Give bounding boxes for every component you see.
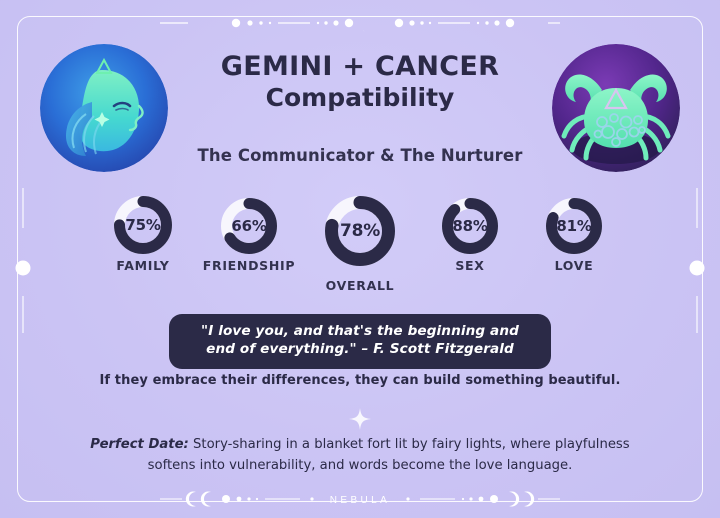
ring-gauge-love: 81%LOVE	[514, 198, 634, 273]
page-title-block: GEMINI + CANCER Compatibility	[180, 52, 540, 113]
ring-value: 88%	[442, 217, 498, 235]
sparkle-icon	[347, 406, 373, 432]
perfect-date-label: Perfect Date:	[90, 437, 189, 452]
perfect-date-line-1: Story-sharing in a blanket fort lit by f…	[193, 437, 551, 452]
ring-gauge-sex: 88%SEX	[410, 198, 530, 273]
ring-visual: 81%	[546, 198, 602, 254]
ring-visual: 88%	[442, 198, 498, 254]
bottom-ornament-brand: NEBULA	[160, 484, 560, 514]
ring-gauge-overall: 78%OVERALL	[300, 196, 420, 293]
quote-box: "I love you, and that's the beginning an…	[169, 314, 551, 369]
infographic-card: GEMINI + CANCER Compatibility The Commun…	[0, 0, 720, 518]
cancer-illustration	[552, 44, 680, 172]
gemini-illustration	[40, 44, 168, 172]
ring-value: 78%	[325, 221, 395, 241]
ring-label: SEX	[410, 258, 530, 273]
ring-value: 75%	[114, 216, 172, 234]
ring-gauge-family: 75%FAMILY	[83, 196, 203, 273]
archetype-subtitle: The Communicator & The Nurturer	[150, 146, 570, 165]
ring-label: FRIENDSHIP	[189, 258, 309, 273]
ring-visual: 78%	[325, 196, 395, 266]
quote-line-1: "I love you, and that's the beginning an…	[183, 323, 537, 341]
page-subtitle-word: Compatibility	[180, 84, 540, 113]
page-title: GEMINI + CANCER	[180, 52, 540, 82]
ring-value: 66%	[221, 217, 277, 235]
ring-value: 81%	[546, 217, 602, 235]
ring-visual: 75%	[114, 196, 172, 254]
quote-line-2: end of everything." – F. Scott Fitzgeral…	[183, 341, 537, 359]
ring-label: LOVE	[514, 258, 634, 273]
ring-visual: 66%	[221, 198, 277, 254]
brand-name: NEBULA	[330, 495, 390, 506]
ring-label: FAMILY	[83, 258, 203, 273]
perfect-date-block: Perfect Date: Story-sharing in a blanket…	[70, 434, 650, 477]
ring-gauge-friendship: 66%FRIENDSHIP	[189, 198, 309, 273]
ring-label: OVERALL	[300, 278, 420, 293]
tagline-text: If they embrace their differences, they …	[60, 373, 660, 388]
top-ornament	[160, 6, 560, 40]
compatibility-rings: 75%FAMILY66%FRIENDSHIP78%OVERALL88%SEX81…	[0, 196, 720, 302]
